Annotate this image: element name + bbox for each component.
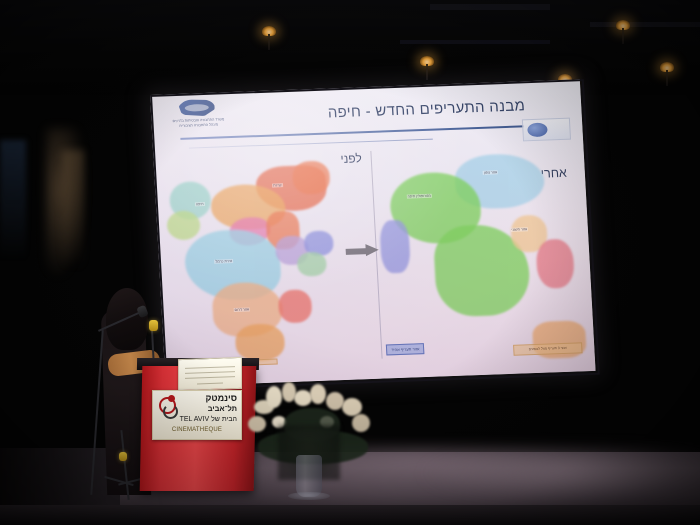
map-region-label: אזור צפון: [483, 171, 499, 176]
badge-dot-icon: [527, 122, 548, 137]
wall-light-strip: [62, 150, 84, 270]
flower-petal: [248, 416, 266, 432]
auditorium-scene: משרד התחבורה והבטיחות בדרכים מינהל התחבו…: [0, 0, 700, 525]
stage-spotlight-icon: [660, 62, 674, 72]
map-region: [536, 238, 575, 289]
stage-spotlight-icon: [420, 56, 434, 66]
stage-spotlight-icon: [262, 26, 276, 36]
notes-line: [197, 383, 223, 385]
spotlight-stem: [622, 28, 624, 44]
logo-text: משרד התחבורה והבטיחות בדרכים מינהל התחבו…: [171, 117, 225, 128]
map-region-label: חיפה: [195, 202, 205, 206]
podium-sign-line-1: סינמטק: [206, 393, 238, 403]
map-region: [379, 219, 410, 274]
stage-front-edge: [0, 505, 700, 525]
ceiling-truss-right: [590, 22, 700, 27]
map-before: קריות חיפה טירת כרמל אזור דרום: [164, 159, 381, 372]
arrow-head: [365, 244, 379, 256]
vase-base: [288, 492, 330, 500]
map-region-label: טירת כרמל: [214, 259, 233, 264]
map-region: [166, 211, 200, 241]
slide-body: לפני: [163, 141, 586, 372]
podium-sign-line-2: תל־אביב: [208, 404, 237, 413]
flower-petal: [310, 384, 326, 404]
projection-screen: משרד התחבורה והבטיחות בדרכים מינהל התחבו…: [150, 79, 596, 386]
pane-after: אחרי מטרופולין חיפה אזור צפון אזור חיצונ: [371, 141, 587, 364]
flower-petal: [352, 414, 370, 432]
spotlight-stem: [666, 70, 668, 86]
wall-blue-panel: [0, 140, 26, 260]
podium-sign: סינמטק תל־אביב הבית של TEL AVIV CINEMATH…: [152, 390, 242, 440]
spotlight-stem: [268, 34, 270, 50]
map-region: [292, 160, 331, 194]
podium-sign-line-3: הבית של TEL AVIV: [180, 416, 237, 423]
map-region: [278, 289, 313, 323]
floor-light-wash-secondary: [420, 455, 700, 500]
spotlight-stem: [426, 64, 428, 80]
logo-circle-arc: [163, 404, 178, 419]
podium-sign-line-4: CINEMATHEQUE: [153, 427, 241, 433]
microphone-icon: [149, 320, 158, 331]
ceiling-truss-left: [430, 4, 550, 10]
projection-screen-area: משרד התחבורה והבטיחות בדרכים מינהל התחבו…: [150, 95, 582, 395]
slide-title-rule: [180, 124, 564, 140]
right-arrow-icon: [345, 244, 380, 258]
glass-vase-icon: [296, 455, 322, 497]
printed-notes-icon: [178, 357, 242, 391]
notes-line: [185, 371, 235, 374]
notes-line: [185, 366, 235, 369]
map-region: [234, 323, 285, 362]
slide-corner-badge: [522, 118, 571, 142]
logo-mark: [178, 99, 215, 117]
cinematheque-circles-logo: [159, 395, 181, 415]
microphone-icon: [119, 452, 127, 461]
logo-circle-filled: [168, 395, 175, 402]
flower-petal: [266, 386, 282, 408]
map-region-label: קריות: [272, 183, 283, 187]
pane-before: לפני: [163, 149, 381, 372]
ceiling: [0, 0, 700, 95]
ceiling-truss-mid: [400, 40, 550, 44]
map-region-label: אזור דרום: [233, 308, 250, 313]
after-blue-callout: אזור תעריף אחיד: [386, 343, 425, 355]
ministry-logo-icon: משרד התחבורה והבטיחות בדרכים מינהל התחבו…: [170, 98, 224, 134]
arrow-shaft: [345, 248, 367, 255]
presentation-slide: משרד התחבורה והבטיחות בדרכים מינהל התחבו…: [150, 79, 596, 386]
stage-spotlight-icon: [616, 20, 630, 30]
map-after: מטרופולין חיפה אזור צפון אזור חיצוני: [372, 151, 587, 364]
notes-line: [185, 376, 235, 379]
map-region-label: אזור חיצוני: [510, 227, 528, 232]
map-region: [296, 251, 326, 277]
slide-title: מבנה התעריפים החדש - חיפה: [327, 97, 525, 121]
